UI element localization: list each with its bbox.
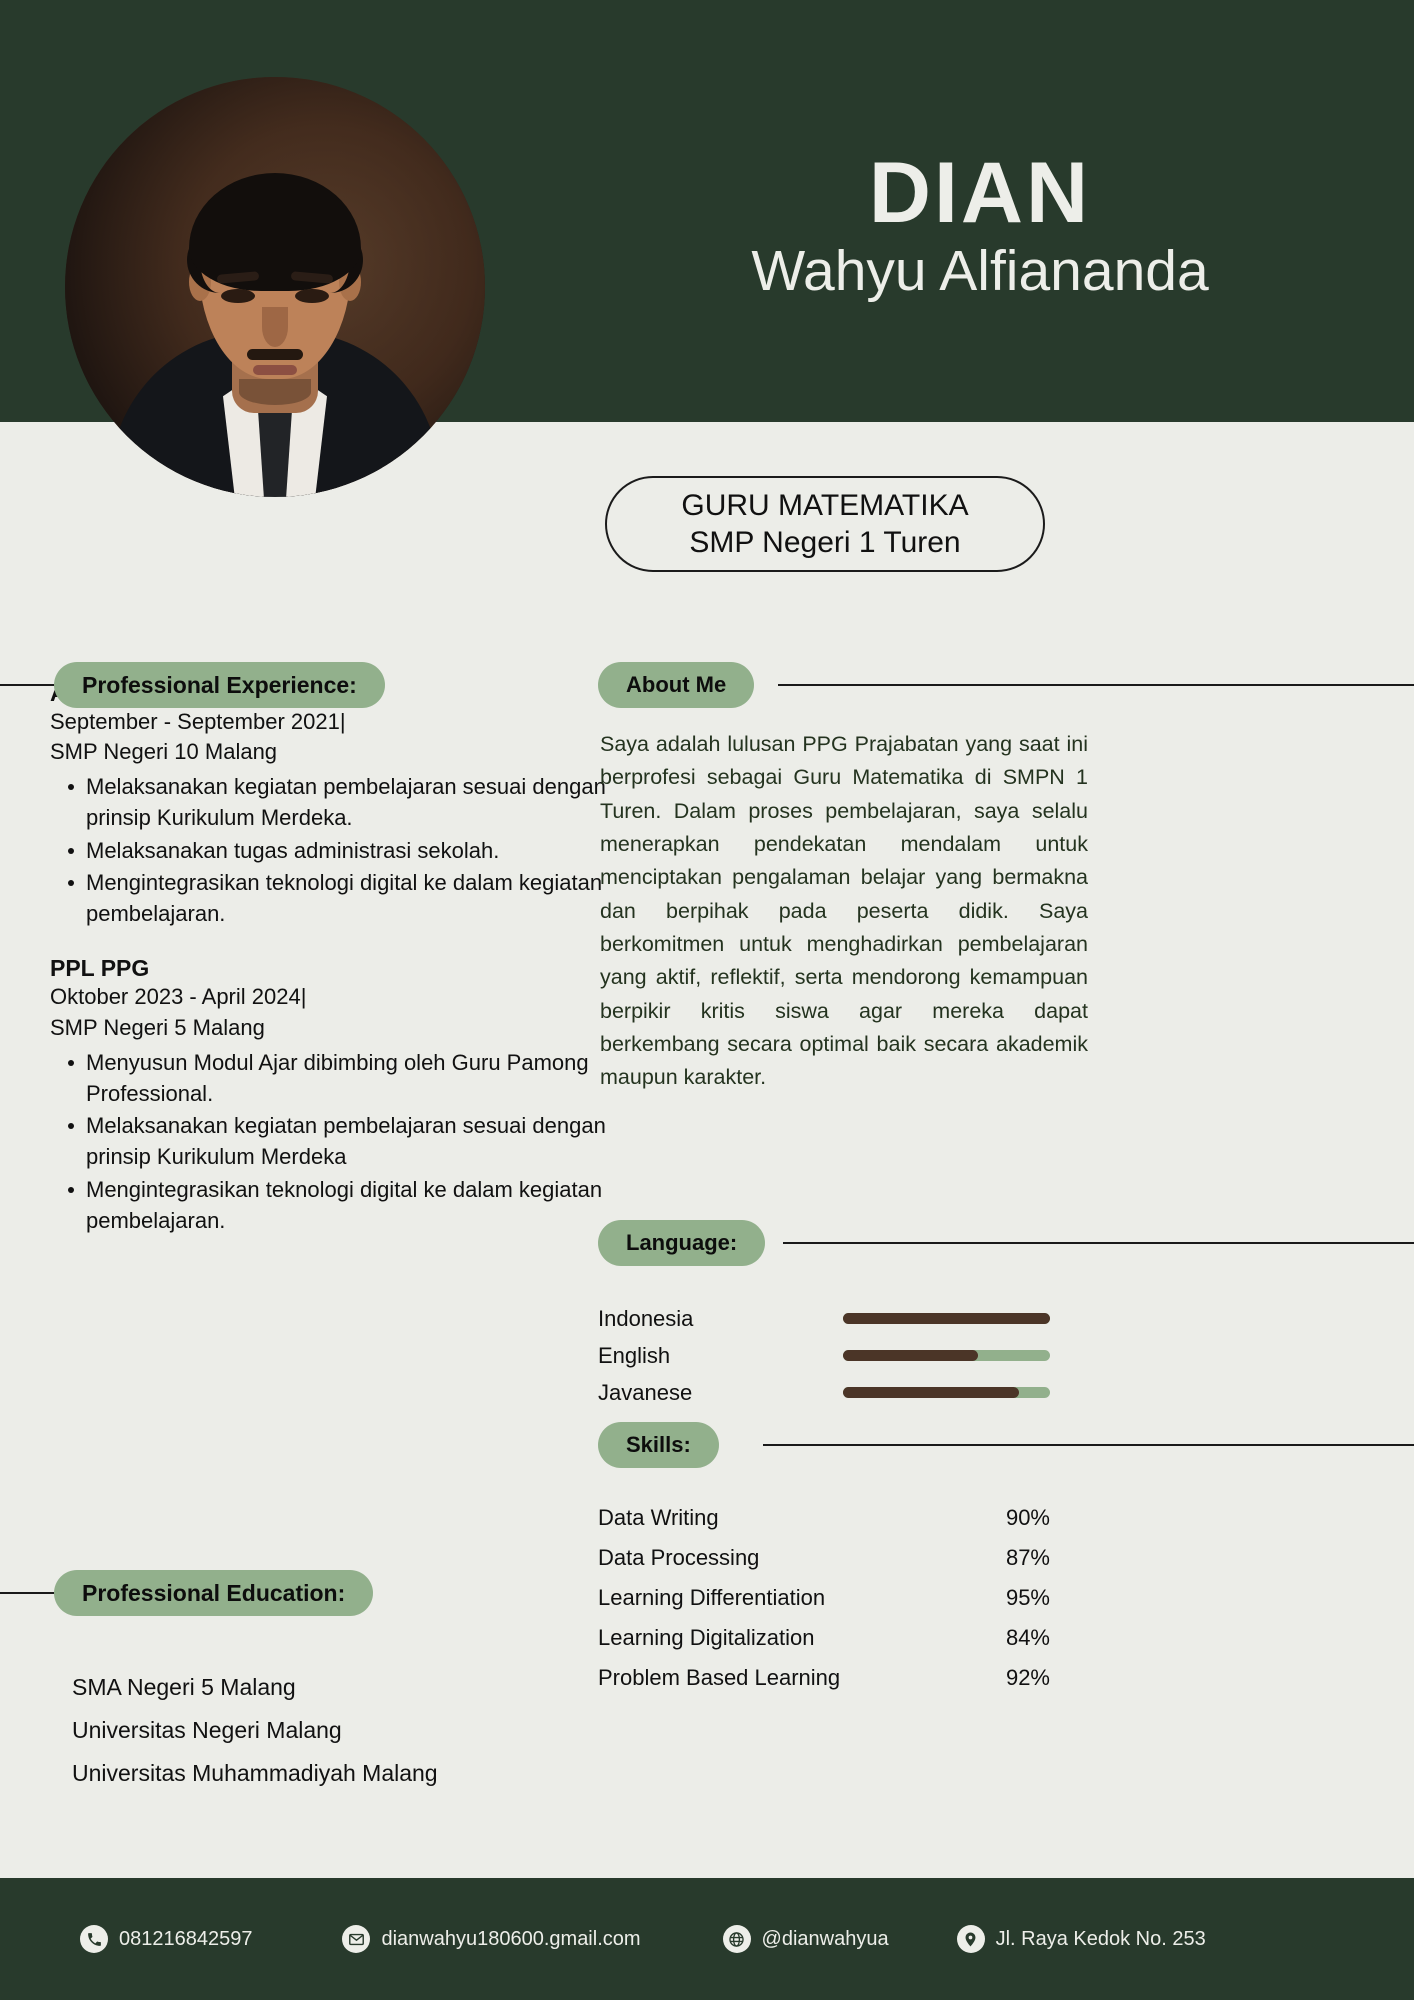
- skill-percent: 84%: [1006, 1625, 1050, 1651]
- phone-icon: [80, 1925, 108, 1953]
- contact-phone-text: 081216842597: [119, 1928, 252, 1951]
- avatar-chin-shadow: [239, 379, 311, 405]
- language-section-header: Language:: [598, 1220, 1414, 1266]
- experience-list: Asistensi Mengajar September - September…: [50, 660, 650, 1237]
- divider-line: [778, 684, 1414, 686]
- language-row: Indonesia: [598, 1300, 1050, 1337]
- job-bullets: Menyusun Modul Ajar dibimbing oleh Guru …: [50, 1047, 650, 1236]
- language-heading: Language:: [598, 1220, 765, 1266]
- avatar-eye-right: [295, 289, 329, 303]
- list-item: SMA Negeri 5 Malang: [62, 1666, 662, 1709]
- experience-heading: Professional Experience:: [54, 662, 385, 708]
- avatar-eye-left: [221, 289, 255, 303]
- job-title-line1: GURU MATEMATIKA: [681, 487, 968, 524]
- job-organization: SMP Negeri 5 Malang: [50, 1013, 650, 1043]
- skill-row: Problem Based Learning 92%: [598, 1658, 1050, 1698]
- language-level-bar: [843, 1313, 1050, 1324]
- education-list: SMA Negeri 5 Malang Universitas Negeri M…: [62, 1666, 662, 1795]
- contact-address-text: Jl. Raya Kedok No. 253: [996, 1928, 1206, 1951]
- skill-row: Data Writing 90%: [598, 1498, 1050, 1538]
- language-name: Javanese: [598, 1380, 843, 1406]
- skill-name: Problem Based Learning: [598, 1665, 840, 1691]
- job-organization: SMP Negeri 10 Malang: [50, 737, 650, 767]
- list-item: Melaksanakan kegiatan pembelajaran sesua…: [50, 1110, 650, 1172]
- skill-percent: 90%: [1006, 1505, 1050, 1531]
- divider-line: [763, 1444, 1414, 1446]
- avatar-mouth: [253, 365, 297, 375]
- skill-percent: 87%: [1006, 1545, 1050, 1571]
- job-dates: Oktober 2023 - April 2024|: [50, 982, 650, 1012]
- skill-percent: 92%: [1006, 1665, 1050, 1691]
- job-title-line2: SMP Negeri 1 Turen: [689, 524, 960, 561]
- contact-phone[interactable]: 081216842597: [80, 1925, 252, 1953]
- language-level-bar: [843, 1350, 1050, 1361]
- experience-entry: Asistensi Mengajar September - September…: [50, 680, 650, 929]
- job-title-badge: GURU MATEMATIKA SMP Negeri 1 Turen: [605, 476, 1045, 572]
- experience-entry: PPL PPG Oktober 2023 - April 2024| SMP N…: [50, 955, 650, 1236]
- contact-social[interactable]: @dianwahyua: [723, 1925, 889, 1953]
- skill-row: Data Processing 87%: [598, 1538, 1050, 1578]
- language-row: Javanese: [598, 1374, 1050, 1411]
- contact-social-text: @dianwahyua: [762, 1928, 889, 1951]
- about-body: Saya adalah lulusan PPG Prajabatan yang …: [600, 700, 1100, 1094]
- skill-row: Learning Differentiation 95%: [598, 1578, 1050, 1618]
- contact-address[interactable]: Jl. Raya Kedok No. 253: [957, 1925, 1206, 1953]
- list-item: Universitas Muhammadiyah Malang: [62, 1752, 662, 1795]
- skill-name: Data Writing: [598, 1505, 719, 1531]
- avatar: [65, 77, 485, 497]
- job-bullets: Melaksanakan kegiatan pembelajaran sesua…: [50, 771, 650, 929]
- last-name: Wahyu Alfiananda: [660, 240, 1300, 304]
- job-dates: September - September 2021|: [50, 707, 650, 737]
- avatar-nose: [262, 307, 288, 347]
- language-name: Indonesia: [598, 1306, 843, 1332]
- email-icon: [342, 1925, 370, 1953]
- list-item: Mengintegrasikan teknologi digital ke da…: [50, 867, 650, 929]
- list-item: Melaksanakan tugas administrasi sekolah.: [50, 835, 650, 866]
- education-section-header: Professional Education:: [0, 1570, 650, 1616]
- about-heading: About Me: [598, 662, 754, 708]
- cv-page: DIAN Wahyu Alfiananda GURU MATEMATIKA SM…: [0, 0, 1414, 2000]
- language-level-fill: [843, 1313, 1050, 1324]
- language-name: English: [598, 1343, 843, 1369]
- language-row: English: [598, 1337, 1050, 1374]
- list-item: Menyusun Modul Ajar dibimbing oleh Guru …: [50, 1047, 650, 1109]
- divider-line: [783, 1242, 1414, 1244]
- list-item: Universitas Negeri Malang: [62, 1709, 662, 1752]
- job-title: PPL PPG: [50, 955, 650, 982]
- skills-list: Data Writing 90% Data Processing 87% Lea…: [598, 1498, 1050, 1698]
- location-pin-icon: [957, 1925, 985, 1953]
- first-name: DIAN: [660, 150, 1300, 238]
- skill-name: Data Processing: [598, 1545, 759, 1571]
- skills-heading: Skills:: [598, 1422, 719, 1468]
- contact-email[interactable]: dianwahyu180600.gmail.com: [342, 1925, 640, 1953]
- language-level-fill: [843, 1350, 978, 1361]
- list-item: Melaksanakan kegiatan pembelajaran sesua…: [50, 771, 650, 833]
- language-list: Indonesia English Javanese: [598, 1300, 1050, 1411]
- contact-footer: 081216842597 dianwahyu180600.gmail.com @…: [0, 1878, 1414, 2000]
- globe-icon: [723, 1925, 751, 1953]
- list-item: Mengintegrasikan teknologi digital ke da…: [50, 1174, 650, 1236]
- skills-section-header: Skills:: [598, 1422, 1414, 1468]
- language-level-fill: [843, 1387, 1019, 1398]
- skill-row: Learning Digitalization 84%: [598, 1618, 1050, 1658]
- avatar-moustache: [247, 349, 303, 360]
- skill-name: Learning Differentiation: [598, 1585, 825, 1611]
- language-level-bar: [843, 1387, 1050, 1398]
- about-paragraph: Saya adalah lulusan PPG Prajabatan yang …: [600, 728, 1088, 1094]
- skill-name: Learning Digitalization: [598, 1625, 814, 1651]
- contact-email-text: dianwahyu180600.gmail.com: [381, 1928, 640, 1951]
- skill-percent: 95%: [1006, 1585, 1050, 1611]
- education-heading: Professional Education:: [54, 1570, 373, 1616]
- name-block: DIAN Wahyu Alfiananda: [660, 150, 1300, 304]
